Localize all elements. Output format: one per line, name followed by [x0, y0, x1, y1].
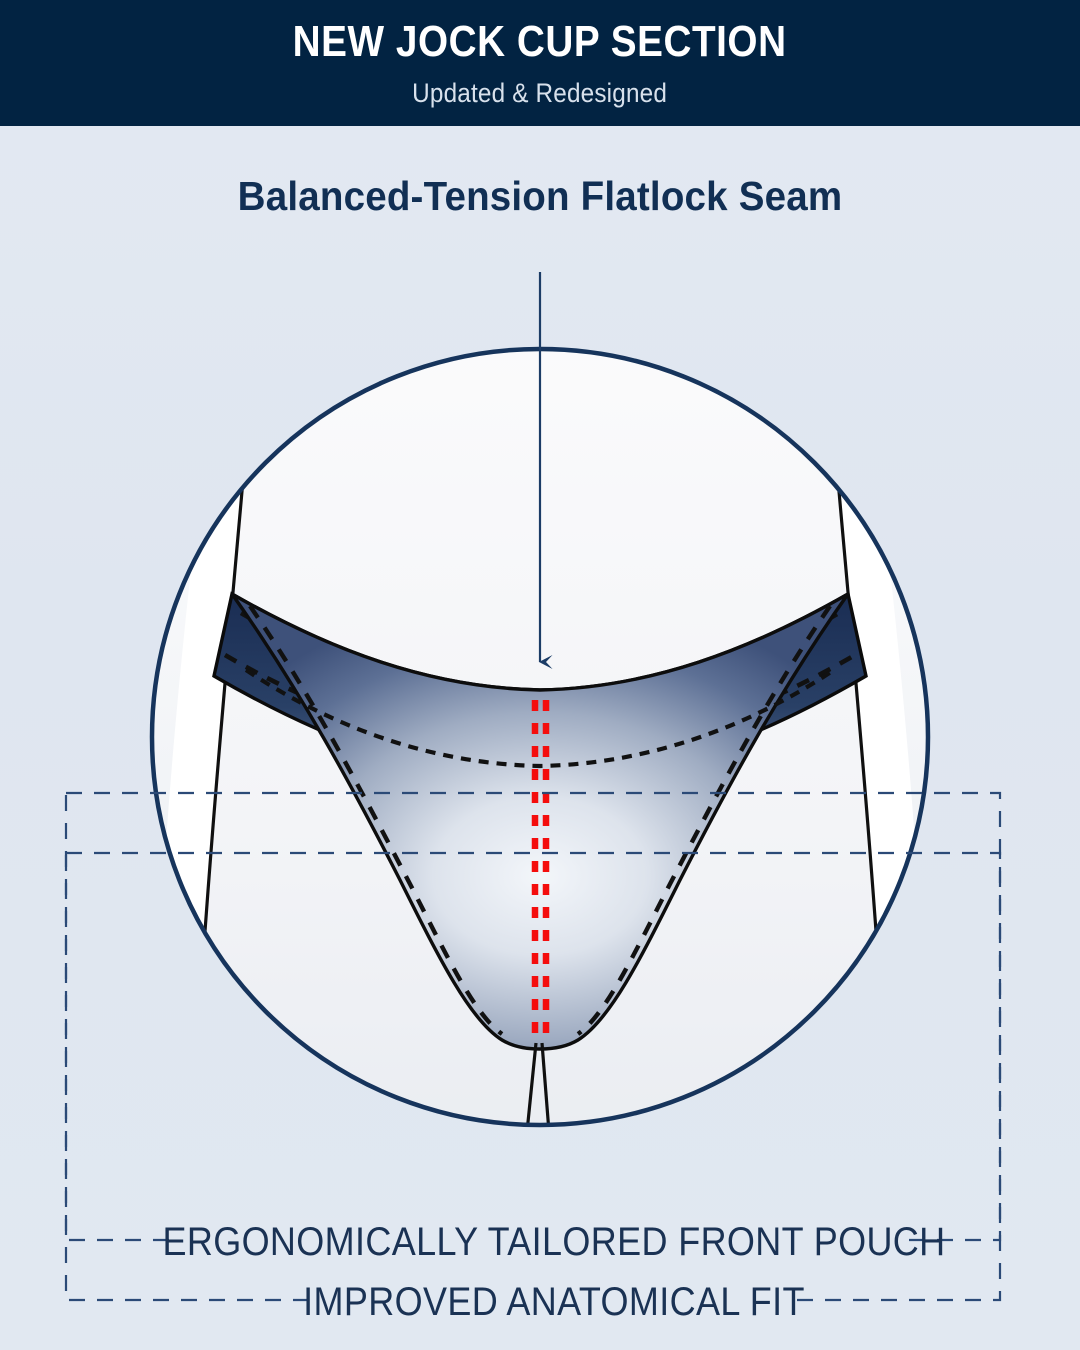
jock-cup-illustration — [0, 0, 1080, 1350]
callout-label-ergonomic-pouch: ERGONOMICALLY TAILORED FRONT POUCH — [55, 1220, 1052, 1265]
infographic-page: NEW JOCK CUP SECTION Updated & Redesigne… — [0, 0, 1080, 1350]
callout-label-anatomical-fit: IMPROVED ANATOMICAL FIT — [55, 1280, 1052, 1325]
